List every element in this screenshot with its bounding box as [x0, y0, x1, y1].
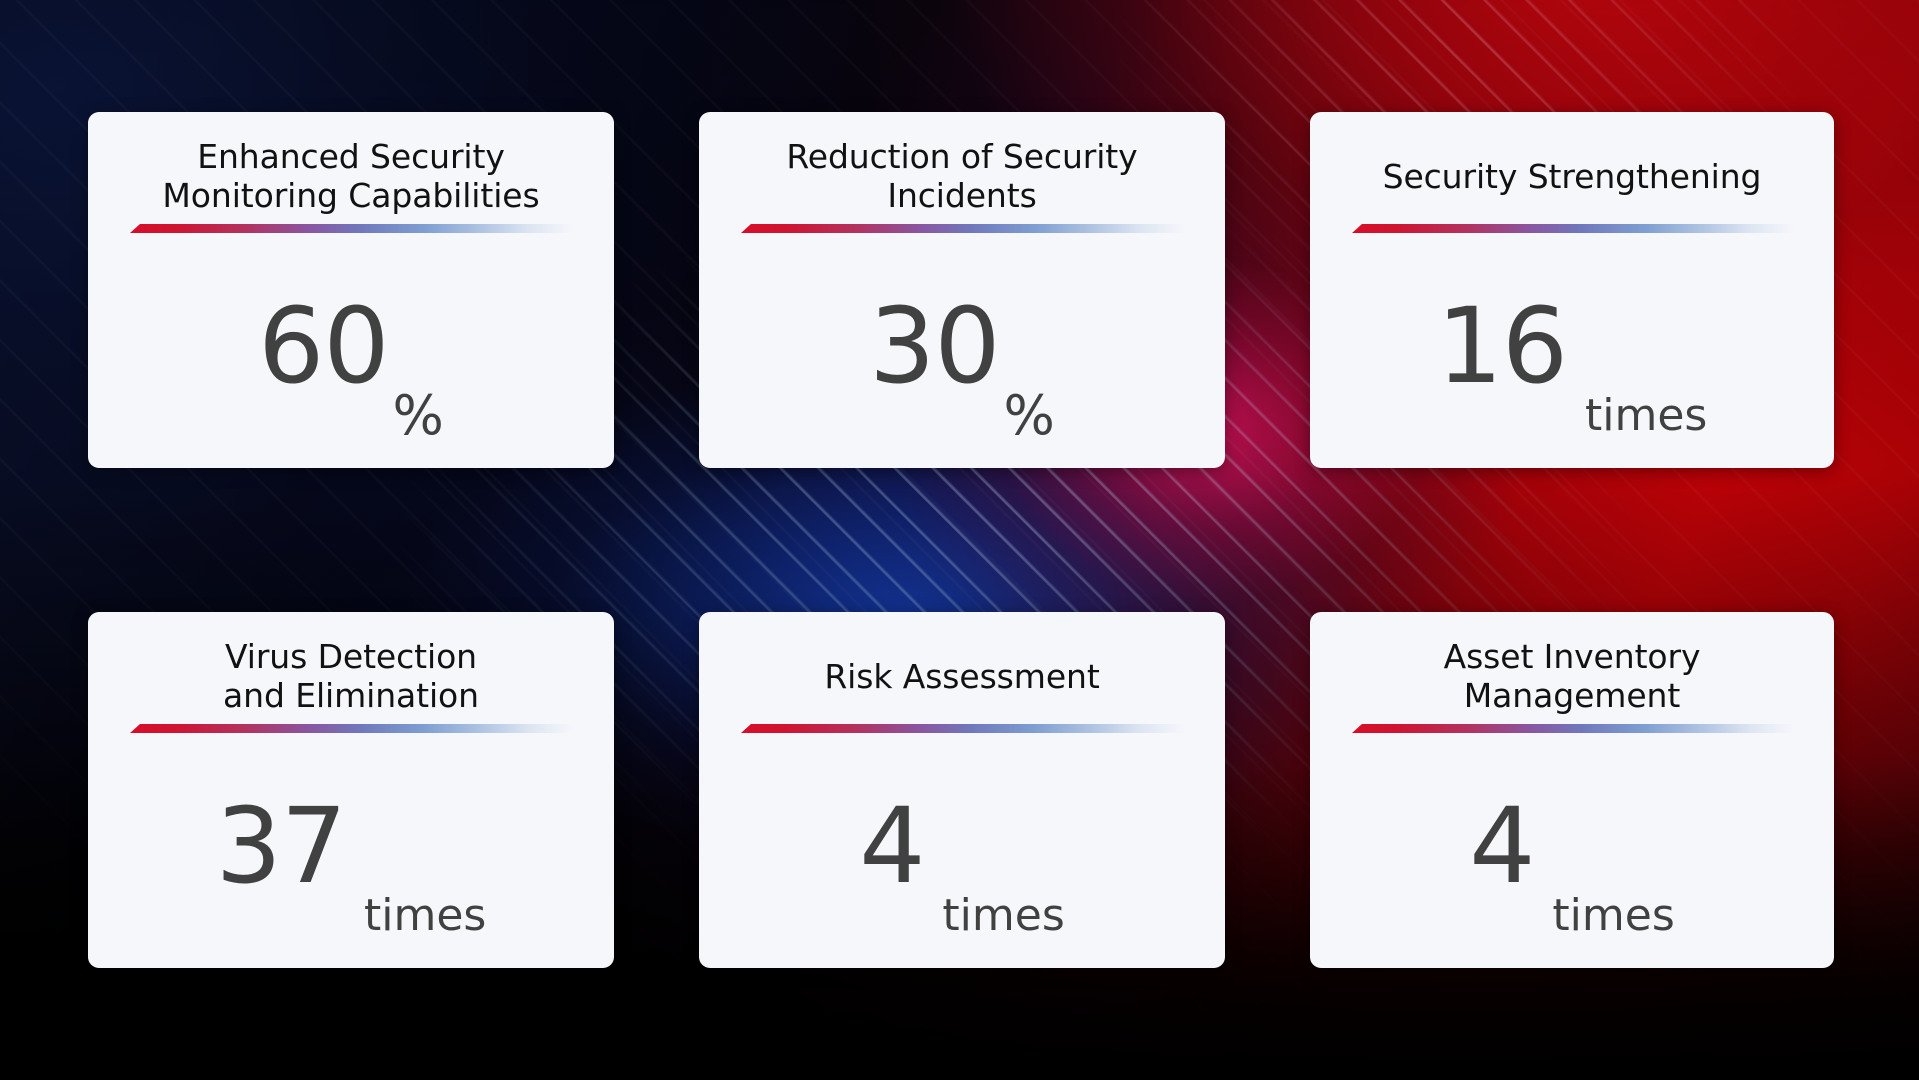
- metric-card[interactable]: Reduction of Security Incidents 30 %: [699, 112, 1225, 468]
- metric-card-rule-wrapper: [126, 224, 576, 236]
- metric-card-title: Enhanced Security Monitoring Capabilitie…: [126, 138, 576, 216]
- metric-number: 30: [869, 294, 999, 398]
- metric-unit: times: [364, 894, 486, 950]
- metric-card-title: Security Strengthening: [1348, 138, 1796, 216]
- gradient-rule: [1352, 724, 1794, 733]
- metric-card-rule-wrapper: [126, 724, 576, 736]
- metric-card-title: Risk Assessment: [737, 638, 1187, 716]
- metric-number: 60: [258, 294, 388, 398]
- metric-value-row: 4 times: [1348, 742, 1796, 950]
- metric-card-title: Virus Detection and Elimination: [126, 638, 576, 716]
- metric-number: 4: [1469, 794, 1534, 898]
- metric-unit: times: [1585, 394, 1707, 450]
- metric-value-row: 60 %: [126, 242, 576, 450]
- metric-unit: %: [393, 389, 444, 450]
- metric-value-row: 30 %: [737, 242, 1187, 450]
- gradient-rule: [130, 224, 574, 233]
- metric-card-rule-wrapper: [1348, 724, 1796, 736]
- metric-card[interactable]: Risk Assessment 4 times: [699, 612, 1225, 968]
- metric-number: 37: [216, 794, 346, 898]
- metric-unit: %: [1004, 389, 1055, 450]
- metric-card-title: Asset Inventory Management: [1348, 638, 1796, 716]
- gradient-rule: [741, 224, 1185, 233]
- gradient-rule: [741, 724, 1185, 733]
- metric-card-rule-wrapper: [737, 224, 1187, 236]
- metric-unit: times: [1552, 894, 1674, 950]
- metric-unit: times: [942, 894, 1064, 950]
- metric-card[interactable]: Security Strengthening 16 times: [1310, 112, 1834, 468]
- metric-card-grid: Enhanced Security Monitoring Capabilitie…: [88, 112, 1833, 968]
- infographic-stage: Enhanced Security Monitoring Capabilitie…: [0, 0, 1919, 1080]
- metric-card-rule-wrapper: [1348, 224, 1796, 236]
- metric-card[interactable]: Asset Inventory Management 4 times: [1310, 612, 1834, 968]
- metric-card-rule-wrapper: [737, 724, 1187, 736]
- gradient-rule: [130, 724, 574, 733]
- metric-card[interactable]: Virus Detection and Elimination 37 times: [88, 612, 614, 968]
- metric-number: 4: [859, 794, 924, 898]
- metric-card[interactable]: Enhanced Security Monitoring Capabilitie…: [88, 112, 614, 468]
- metric-card-title: Reduction of Security Incidents: [737, 138, 1187, 216]
- gradient-rule: [1352, 224, 1794, 233]
- metric-number: 16: [1437, 294, 1567, 398]
- metric-value-row: 16 times: [1348, 242, 1796, 450]
- metric-value-row: 37 times: [126, 742, 576, 950]
- metric-value-row: 4 times: [737, 742, 1187, 950]
